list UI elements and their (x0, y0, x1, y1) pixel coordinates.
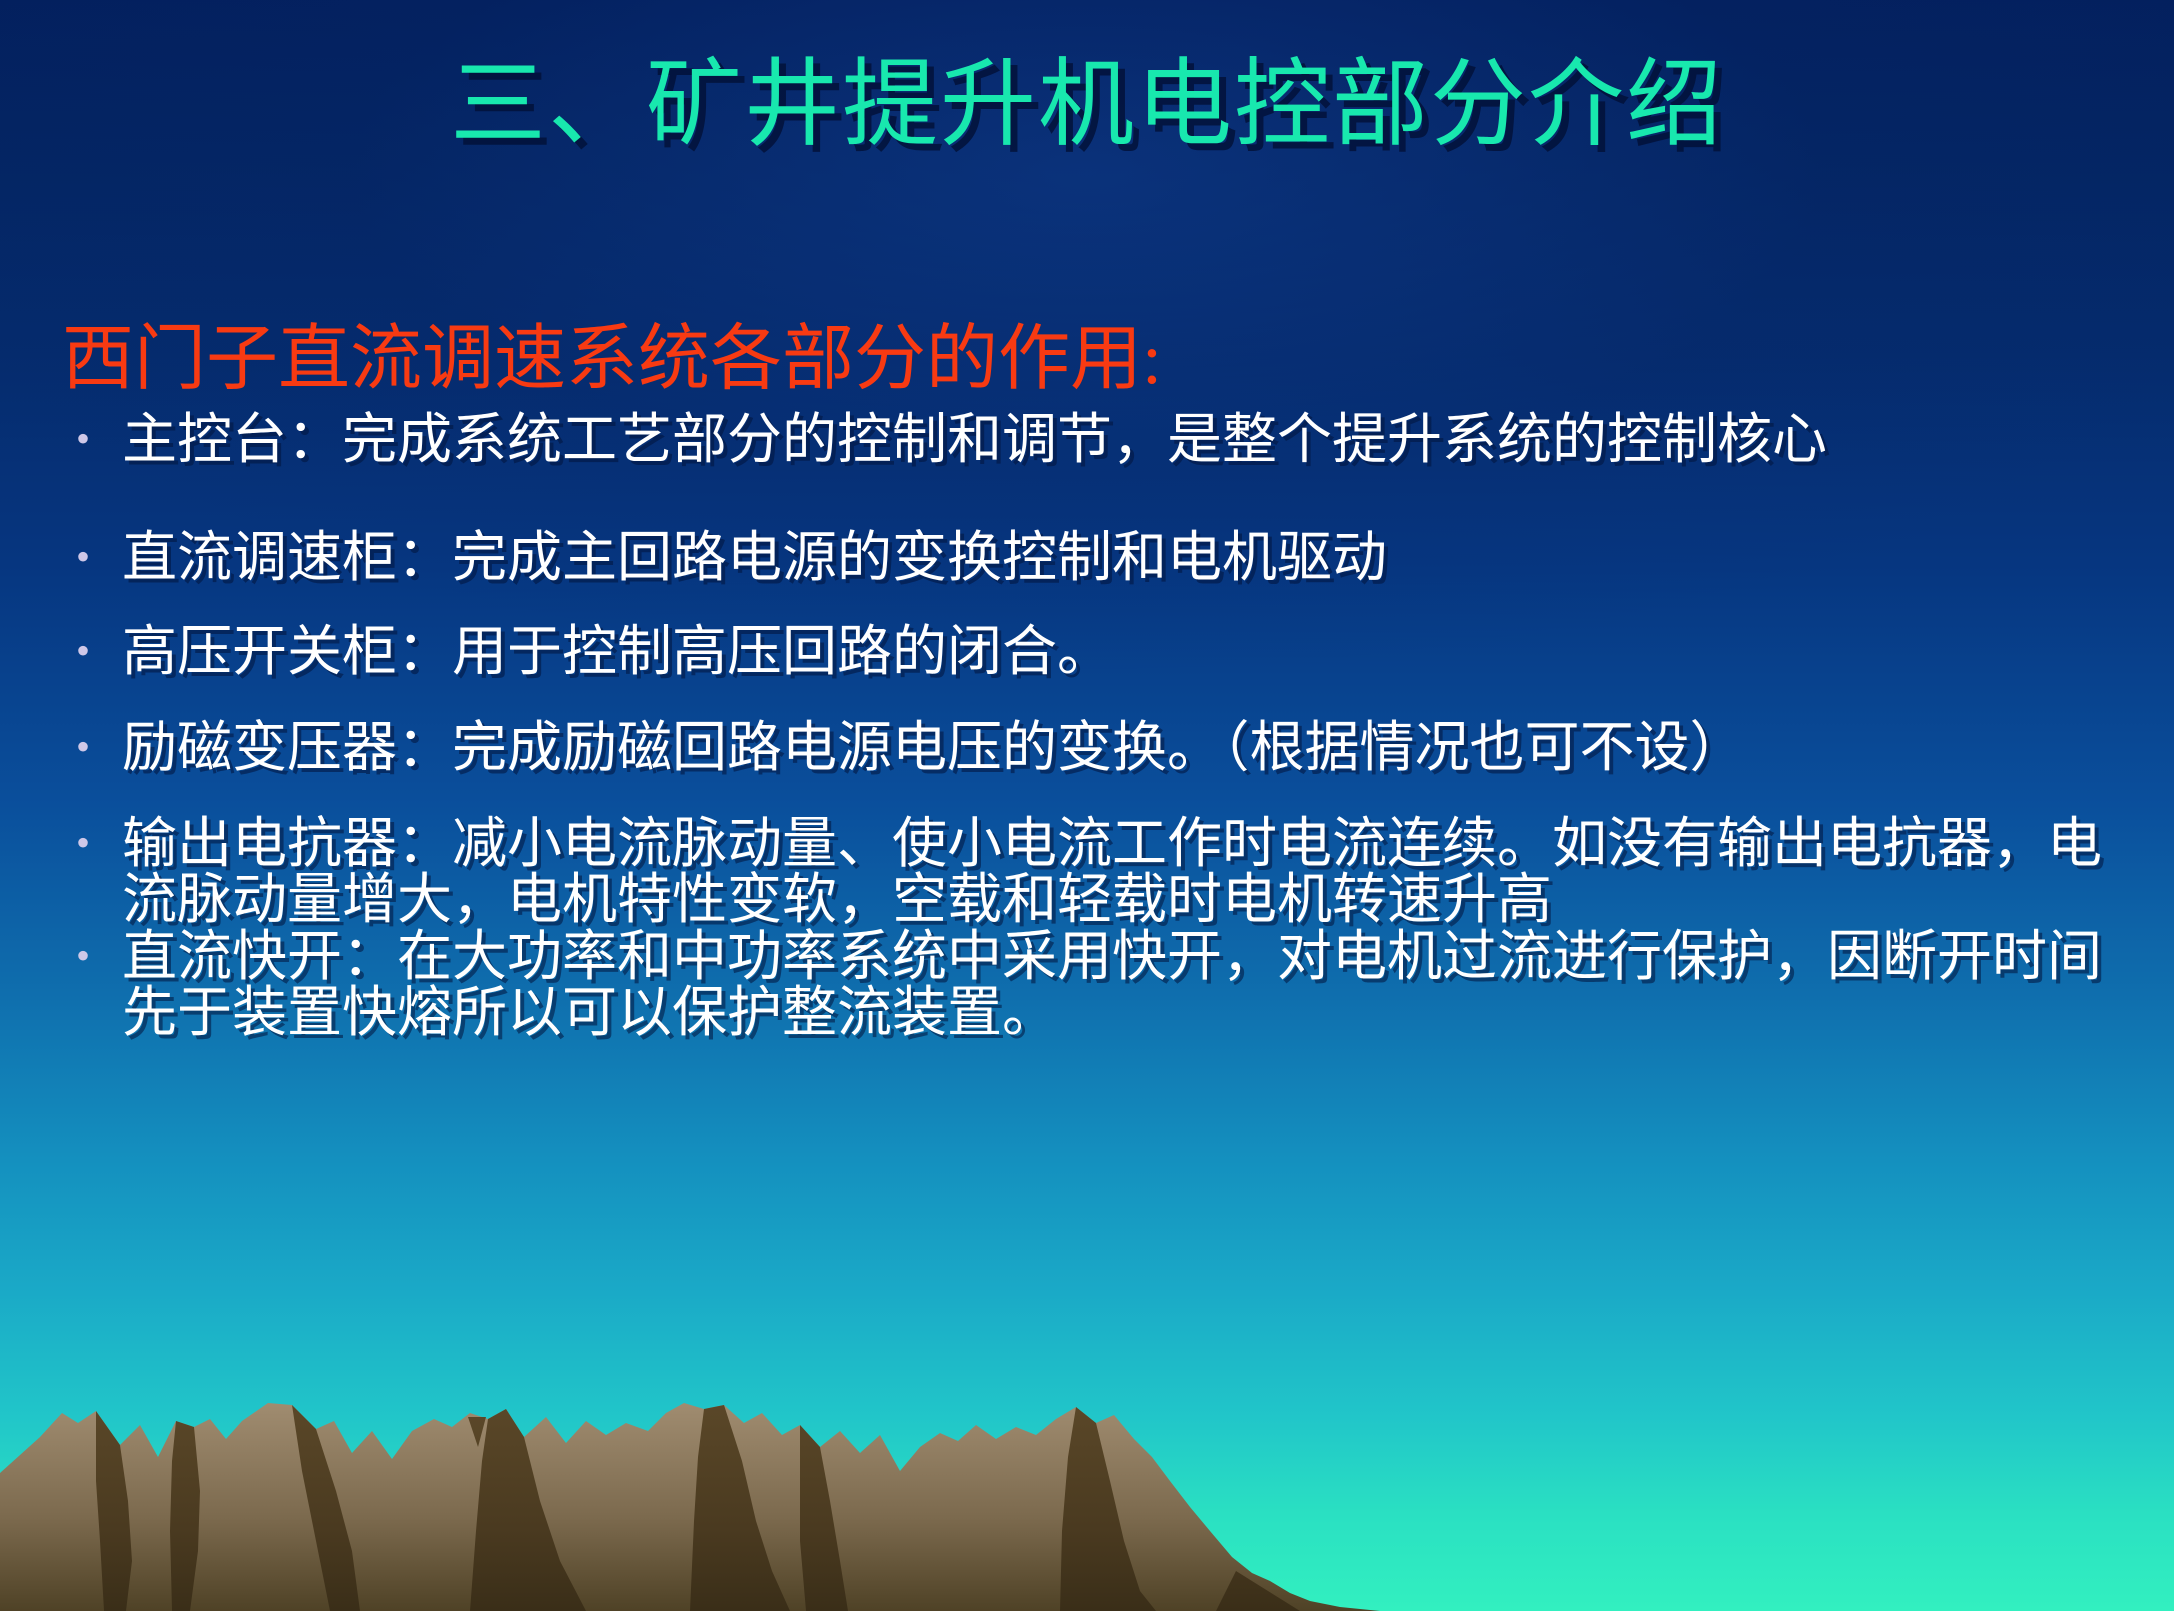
spacer (44, 680, 2134, 720)
presentation-slide: 三、矿井提升机电控部分介绍 西门子直流调速系统各部分的作用: • 主控台：完成系… (0, 0, 2174, 1611)
list-item: • 励磁变压器：完成励磁回路电源电压的变换。（根据情况也可不设） (44, 720, 2134, 776)
list-item-label: 直流调速柜：完成主回路电源的变换控制和电机驱动 (122, 530, 2134, 586)
bullet-marker-icon: • (44, 816, 122, 870)
slide-subtitle: 西门子直流调速系统各部分的作用: (62, 322, 1162, 398)
bullet-list: • 主控台：完成系统工艺部分的控制和调节，是整个提升系统的控制核心 • 直流调速… (44, 412, 2134, 1041)
mountain-range-graphic (0, 1361, 1880, 1611)
list-item: • 高压开关柜：用于控制高压回路的闭合。 (44, 624, 2134, 680)
bullet-marker-icon: • (44, 412, 122, 466)
list-item-label: 高压开关柜：用于控制高压回路的闭合。 (122, 624, 2134, 680)
spacer (44, 586, 2134, 624)
slide-title: 三、矿井提升机电控部分介绍 (0, 50, 2174, 160)
mountain-svg (0, 1361, 1880, 1611)
spacer (44, 468, 2134, 530)
list-item: • 直流调速柜：完成主回路电源的变换控制和电机驱动 (44, 530, 2134, 586)
bullet-marker-icon: • (44, 624, 122, 678)
spacer (44, 776, 2134, 816)
mountain-light-range (0, 1403, 1380, 1611)
bullet-marker-icon: • (44, 720, 122, 774)
list-item: • 直流快开：在大功率和中功率系统中采用快开，对电机过流进行保护，因断开时间先于… (44, 929, 2134, 1041)
bullet-marker-icon: • (44, 530, 122, 584)
bullet-marker-icon: • (44, 929, 122, 983)
list-item-label: 输出电抗器：减小电流脉动量、使小电流工作时电流连续。如没有输出电抗器，电流脉动量… (122, 816, 2134, 928)
list-item-label: 直流快开：在大功率和中功率系统中采用快开，对电机过流进行保护，因断开时间先于装置… (122, 929, 2134, 1041)
list-item: • 输出电抗器：减小电流脉动量、使小电流工作时电流连续。如没有输出电抗器，电流脉… (44, 816, 2134, 928)
list-item-label: 主控台：完成系统工艺部分的控制和调节，是整个提升系统的控制核心 (122, 412, 2134, 468)
list-item: • 主控台：完成系统工艺部分的控制和调节，是整个提升系统的控制核心 (44, 412, 2134, 468)
list-item-label: 励磁变压器：完成励磁回路电源电压的变换。（根据情况也可不设） (122, 720, 2134, 776)
